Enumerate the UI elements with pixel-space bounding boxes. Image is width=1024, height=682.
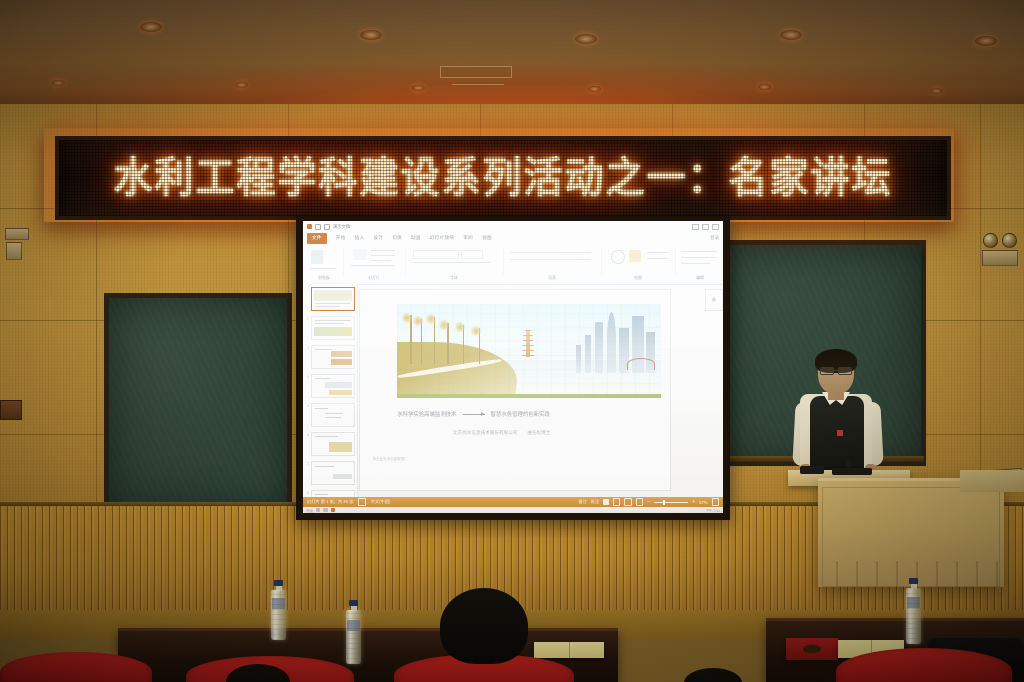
tab-review[interactable]: 审阅 xyxy=(463,235,473,241)
attendee-head xyxy=(440,588,528,664)
notes-button[interactable]: 备注 xyxy=(578,499,586,505)
zoom-in-button[interactable]: + xyxy=(692,500,695,505)
thumbnail-item[interactable]: 2 xyxy=(305,316,355,340)
projection-screen: 演示文稿 文件 开始 插入 设计 切换 动画 幻灯片放映 审阅 视图 登录 xyxy=(296,214,730,520)
ceiling-light-icon xyxy=(588,86,601,92)
close-icon[interactable] xyxy=(712,224,719,230)
led-banner: 水利工程学科建设系列活动之一：名家讲坛 xyxy=(55,136,951,220)
lecture-hall-photo: 水利工程学科建设系列活动之一：名家讲坛 演示文稿 文件 开始 插入 xyxy=(0,0,1024,682)
thumbnail-preview[interactable] xyxy=(311,461,355,485)
explorer-icon[interactable] xyxy=(316,508,321,513)
thumbnail-number: 1 xyxy=(305,287,309,292)
wall-switch-left[interactable] xyxy=(6,242,22,260)
slide-byline-org: 北京尚水信息技术股份有限公司 xyxy=(453,430,517,436)
ceiling-light-icon xyxy=(575,34,597,44)
thumbnail-item[interactable]: 8 xyxy=(305,490,355,497)
comments-button[interactable]: 批注 xyxy=(591,499,599,505)
slide-canvas[interactable]: 水科学实验高端监测技术 智慧水务管理的创新实践 北京尚水信息技术股份有限公司 曲… xyxy=(359,289,671,491)
podium-side-ledge xyxy=(960,470,1024,492)
thumbnail-number: 4 xyxy=(305,374,309,379)
ribbon-group-clipboard[interactable]: 剪贴板 xyxy=(307,246,341,282)
thumbnail-number: 3 xyxy=(305,345,309,350)
ppt-ribbon[interactable]: 剪贴板 幻灯片 字体 xyxy=(303,244,723,285)
thumbnail-preview[interactable] xyxy=(311,345,355,369)
thumbnail-item[interactable]: 4 xyxy=(305,374,355,398)
language-label[interactable]: 中文(中国) xyxy=(371,499,391,505)
ribbon-group-slides[interactable]: 幻灯片 xyxy=(347,246,401,282)
chalkboard-left xyxy=(104,293,292,515)
attendee-head xyxy=(684,668,742,682)
slide-title-left: 水科学实验高端监测技术 xyxy=(397,410,456,418)
thumbnail-item[interactable]: 7 xyxy=(305,461,355,485)
tab-transitions[interactable]: 切换 xyxy=(392,235,402,241)
thumbnail-preview[interactable] xyxy=(311,490,355,497)
thumbnail-number: 7 xyxy=(305,461,309,466)
view-slideshow-icon[interactable] xyxy=(636,498,644,506)
ceiling-vent xyxy=(452,80,504,85)
ceiling-vent xyxy=(440,66,512,78)
podium-laptop[interactable] xyxy=(800,466,824,474)
speaker-person xyxy=(790,352,886,480)
ribbon-group-label: 绘图 xyxy=(605,276,671,281)
wall-knob-icon[interactable] xyxy=(983,233,998,248)
powerpoint-window[interactable]: 演示文稿 文件 开始 插入 设计 切换 动画 幻灯片放映 审阅 视图 登录 xyxy=(303,221,723,513)
undo-icon[interactable] xyxy=(315,224,321,230)
slide-image xyxy=(397,304,661,398)
wall-sign-left xyxy=(0,400,22,420)
ceiling-light-icon xyxy=(52,80,65,86)
ceiling-light-icon xyxy=(930,88,943,94)
zoom-slider[interactable] xyxy=(654,502,688,503)
fit-slide-icon[interactable] xyxy=(712,498,720,506)
thumbnail-item[interactable]: 5 xyxy=(305,403,355,427)
sign-in-label[interactable]: 登录 xyxy=(710,235,719,241)
redo-icon[interactable] xyxy=(324,224,330,230)
thumbnail-number: 2 xyxy=(305,316,309,321)
ribbon-group-editing[interactable]: 编辑 xyxy=(679,246,721,282)
thumbnail-preview[interactable] xyxy=(311,432,355,456)
view-sorter-icon[interactable] xyxy=(613,498,621,506)
podium xyxy=(818,478,1004,587)
ceiling-light-icon xyxy=(360,30,382,40)
ceiling-light-icon xyxy=(235,82,248,88)
ceiling-light-icon xyxy=(975,36,997,46)
microphone-icon[interactable] xyxy=(846,460,851,470)
start-button[interactable]: 开始 xyxy=(306,508,313,513)
thumbnail-preview[interactable] xyxy=(311,403,355,427)
view-normal-icon[interactable] xyxy=(603,499,609,505)
ceiling-light-icon xyxy=(140,22,162,32)
wall-knob-icon[interactable] xyxy=(1002,233,1017,248)
ceiling-light-icon xyxy=(758,84,771,90)
tab-slideshow[interactable]: 幻灯片放映 xyxy=(430,235,454,241)
minimize-icon[interactable] xyxy=(692,224,699,230)
slide-title-right: 智慧水务管理的创新实践 xyxy=(491,410,550,418)
notes-side-tab[interactable]: 备 xyxy=(705,289,723,311)
ceiling-light-icon xyxy=(780,30,802,40)
thumbnail-preview[interactable] xyxy=(311,374,355,398)
thumbnail-number: 5 xyxy=(305,403,309,408)
ribbon-group-drawing[interactable]: 绘图 xyxy=(605,246,671,282)
tab-view[interactable]: 视图 xyxy=(482,235,492,241)
ribbon-group-paragraph[interactable]: 段落 xyxy=(507,246,597,282)
thumbnail-number: 6 xyxy=(305,432,309,437)
browser-icon[interactable] xyxy=(323,508,328,513)
podium-control-panel[interactable] xyxy=(832,468,872,475)
window-buttons[interactable] xyxy=(692,224,719,230)
ppt-status-bar[interactable]: 幻灯片 第 1 张，共 46 张 中文(中国) 备注 批注 − + 57% xyxy=(303,497,723,507)
wall-control-panel-right[interactable] xyxy=(982,250,1018,266)
tab-home[interactable]: 开始 xyxy=(336,235,346,241)
taskbar-clock[interactable]: 下午 2:41 xyxy=(706,508,720,513)
slide-subtitle-placeholder[interactable]: 单击此处添加副标题 xyxy=(372,457,404,462)
wall-plate-left xyxy=(5,228,29,240)
tab-insert[interactable]: 插入 xyxy=(355,235,365,241)
tab-design[interactable]: 设计 xyxy=(373,235,383,241)
zoom-out-button[interactable]: − xyxy=(647,500,650,505)
view-reading-icon[interactable] xyxy=(624,498,632,506)
thumbnail-item[interactable]: 3 xyxy=(305,345,355,369)
ceiling-light-icon xyxy=(412,85,425,91)
glasses-icon xyxy=(820,367,852,373)
thumbnail-preview[interactable] xyxy=(311,316,355,340)
powerpoint-icon[interactable] xyxy=(331,508,336,513)
slide-byline-person: 曲兆松博士 xyxy=(527,430,550,436)
ribbon-group-label: 幻灯片 xyxy=(347,276,401,281)
ribbon-group-label: 字体 xyxy=(409,276,499,281)
maximize-icon[interactable] xyxy=(702,224,709,230)
ribbon-group-label: 剪贴板 xyxy=(307,276,341,281)
ppt-document-title: 演示文稿 xyxy=(333,224,350,230)
windows-taskbar[interactable]: 开始 下午 2:41 xyxy=(303,507,723,513)
zoom-slider-handle[interactable] xyxy=(663,500,665,505)
thumbnail-item[interactable]: 1 xyxy=(305,287,355,311)
slide-counter: 幻灯片 第 1 张，共 46 张 xyxy=(307,499,353,505)
tab-file[interactable]: 文件 xyxy=(307,233,327,244)
language-icon[interactable] xyxy=(358,498,366,506)
led-banner-text: 水利工程学科建设系列活动之一：名家讲坛 xyxy=(113,157,892,199)
ribbon-group-label: 编辑 xyxy=(679,276,721,281)
zoom-level-label[interactable]: 57% xyxy=(699,500,707,505)
tab-animations[interactable]: 动画 xyxy=(411,235,421,241)
thumbnail-number: 8 xyxy=(305,490,309,495)
folder-emblem-icon xyxy=(803,645,821,654)
slide-thumbnail-pane[interactable]: 1 2 3 xyxy=(303,284,358,497)
arrow-icon xyxy=(463,414,485,415)
open-notebook[interactable] xyxy=(534,642,604,658)
ceiling xyxy=(0,0,1024,112)
thumbnail-item[interactable]: 6 xyxy=(305,432,355,456)
status-right-group[interactable]: 备注 批注 − + 57% xyxy=(578,498,719,506)
red-folder[interactable] xyxy=(786,638,838,660)
ribbon-group-label: 段落 xyxy=(507,276,597,281)
thumbnail-preview[interactable] xyxy=(311,287,355,311)
ribbon-group-font[interactable]: 字体 xyxy=(409,246,499,282)
slide-title-row: 水科学实验高端监测技术 智慧水务管理的创新实践 xyxy=(397,410,651,418)
slide-byline: 北京尚水信息技术股份有限公司 曲兆松博士 xyxy=(453,430,651,436)
save-icon[interactable] xyxy=(307,224,312,229)
speaker-badge xyxy=(837,430,843,436)
